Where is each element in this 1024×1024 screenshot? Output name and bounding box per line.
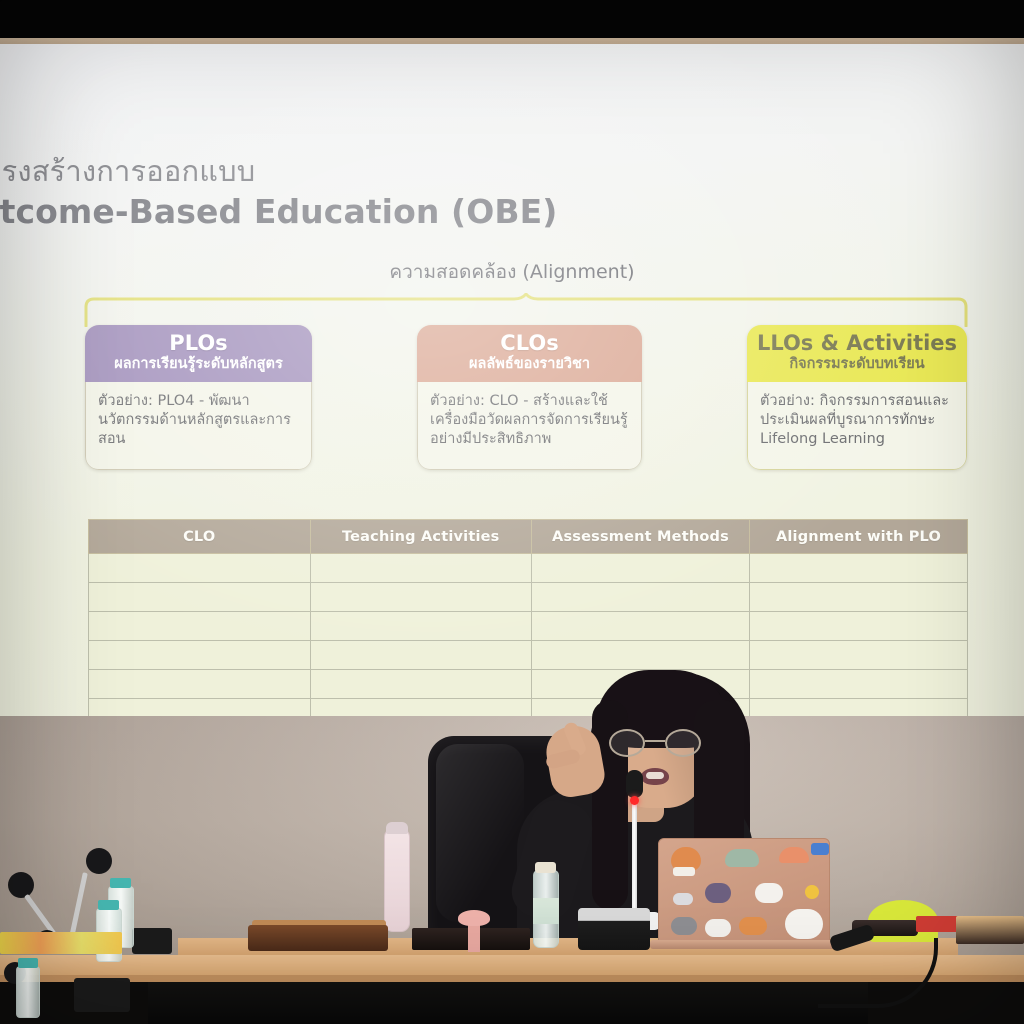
table-cell [89,699,311,717]
table-header-alignment-with-plo: Alignment with PLO [749,520,967,554]
concept-box-clos[interactable]: CLOs ผลลัพธ์ของรายวิชา ตัวอย่าง: CLO - ส… [417,325,642,470]
top-black-bar [0,0,1024,40]
alignment-brace-icon [84,293,968,327]
concept-box-clos-text: ตัวอย่าง: CLO - สร้างและใช้เครื่องมือวัด… [430,392,629,449]
desk-microphone-head-1 [86,848,112,874]
alignment-table: CLO Teaching Activities Assessment Metho… [88,519,968,716]
sticker-tabby-cat [671,917,697,935]
table-cell [89,612,311,641]
table-cell [532,612,750,641]
table-cell [89,554,311,583]
concept-box-llos[interactable]: LLOs & Activities กิจกรรมระดับบทเรียน ตั… [747,325,967,470]
water-bottle-label [533,898,559,924]
water-bottle-cap [535,862,556,873]
sticker-spotted-cat [705,919,731,937]
concept-boxes-row: PLOs ผลการเรียนรู้ระดับหลักสูตร ตัวอย่าง… [0,325,1024,485]
snack-box-ribbon [468,924,480,952]
table-cell [89,641,311,670]
eyeglass-bridge [645,740,665,742]
table-cell [749,641,967,670]
table-cell [310,554,532,583]
leather-portfolio[interactable] [248,925,388,951]
desk-microphone-base-1 [132,928,172,954]
eyeglasses-icon [607,729,711,757]
sticker-white-cat [755,883,783,903]
slide-title-thai: ครงสร้างการออกแบบ [0,148,255,194]
concept-box-clos-body: ตัวอย่าง: CLO - สร้างและใช้เครื่องมือวัด… [417,382,642,470]
table-cell [310,583,532,612]
screenshot-root: ครงสร้างการออกแบบ utcome-Based Education… [0,0,1024,1024]
concept-box-plos-subtitle: ผลการเรียนรู้ระดับหลักสูตร [93,355,304,374]
table-cell [532,641,750,670]
table-cell [310,612,532,641]
desk-water-bottle-cap-3 [18,958,38,968]
table-header-row: CLO Teaching Activities Assessment Metho… [89,520,968,554]
sticker-cat-bowl [673,867,695,876]
table-row [89,554,968,583]
microphone-led-indicator [630,796,639,805]
concept-box-llos-title: LLOs & Activities [755,332,959,354]
concept-box-llos-subtitle: กิจกรรมระดับบทเรียน [755,355,959,374]
table-row [89,699,968,717]
desk-water-bottle-cap-1 [110,878,131,888]
eyeglass-lens-right [665,729,701,757]
sticker-blue-badge [811,843,829,855]
concept-box-clos-header: CLOs ผลลัพธ์ของรายวิชา [417,325,642,382]
table-cell [749,670,967,699]
table-cell [749,554,967,583]
table-header-assessment-methods: Assessment Methods [532,520,750,554]
alignment-label: ความสอดคล้อง (Alignment) [0,257,1024,287]
table-cell [89,670,311,699]
eyeglass-lens-left [609,729,645,757]
table-cell [749,612,967,641]
concept-box-plos-body: ตัวอย่าง: PLO4 - พัฒนานวัตกรรมด้านหลักสู… [85,382,312,470]
microphone-stem [632,790,637,920]
table-cell [310,641,532,670]
concept-box-clos-title: CLOs [425,332,634,354]
presenter-teeth [646,772,664,779]
desk-microphone-base-2 [74,978,130,1012]
concept-box-llos-text: ตัวอย่าง: กิจกรรมการสอนและประเมินผลที่บู… [760,392,954,449]
snack-packets[interactable] [0,932,122,954]
table-row [89,670,968,699]
concept-box-plos-text: ตัวอย่าง: PLO4 - พัฒนานวัตกรรมด้านหลักสู… [98,392,299,449]
concept-box-plos[interactable]: PLOs ผลการเรียนรู้ระดับหลักสูตร ตัวอย่าง… [85,325,312,470]
sticker-ginger-cat [739,917,767,935]
table-cell [89,583,311,612]
sticker-purple-cat [705,883,731,903]
table-cell [749,699,967,717]
pencil-case[interactable] [384,828,410,932]
table-cell [310,699,532,717]
table-row [89,641,968,670]
laptop-base [650,940,840,949]
chair-highlight [436,744,524,922]
pencil-case-lid [386,822,408,834]
slide-title-english: utcome-Based Education (OBE) [0,192,557,231]
desk-water-bottle-3[interactable] [16,966,40,1018]
table-cell [532,554,750,583]
snack-box-bow [458,910,490,926]
concept-box-llos-header: LLOs & Activities กิจกรรมระดับบทเรียน [747,325,967,382]
concept-box-clos-subtitle: ผลลัพธ์ของรายวิชา [425,355,634,374]
concept-box-llos-body: ตัวอย่าง: กิจกรรมการสอนและประเมินผลที่บู… [747,382,967,470]
desk-modesty-panel [148,982,868,1024]
sticker-grey-cat [725,849,759,867]
projected-slide: ครงสร้างการออกแบบ utcome-Based Education… [0,44,1024,716]
table-cell [532,583,750,612]
table-cell [310,670,532,699]
table-row [89,583,968,612]
snack-tray-right[interactable] [956,916,1024,944]
table-cell [749,583,967,612]
desk-microphone-head-2 [8,872,34,898]
sticker-sleeping-cat [779,847,809,863]
table-row [89,612,968,641]
table-header-clo: CLO [89,520,311,554]
desk-water-bottle-cap-2 [98,900,119,910]
microphone-head-icon [626,770,643,798]
sticker-cloud [673,893,693,905]
concept-box-plos-title: PLOs [93,332,304,354]
sticker-big-white-cat [785,909,823,939]
conference-control-unit[interactable] [578,908,650,950]
concept-box-plos-header: PLOs ผลการเรียนรู้ระดับหลักสูตร [85,325,312,382]
sticker-yellow-smiley [805,885,819,899]
table-header-teaching-activities: Teaching Activities [310,520,532,554]
laptop[interactable] [658,838,830,946]
